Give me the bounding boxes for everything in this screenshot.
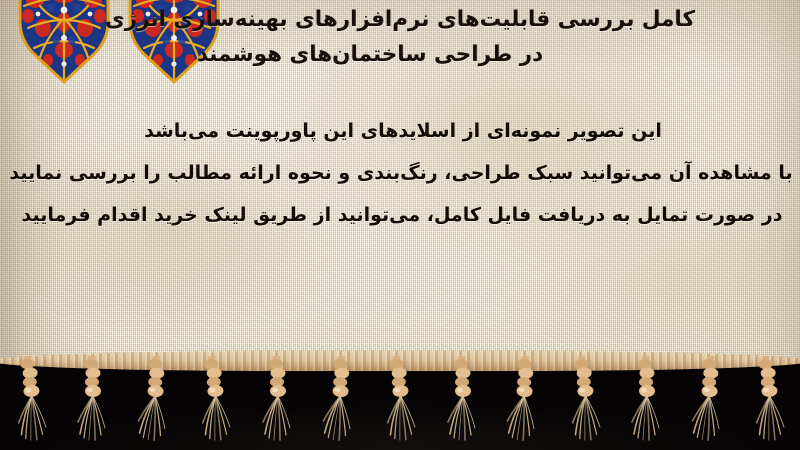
carpet-fringe-tassels (0, 360, 800, 450)
fringe-tassel (75, 356, 109, 442)
fringe-tassel (134, 355, 174, 443)
fringe-tassel (565, 355, 605, 443)
fringe-tassel (380, 355, 420, 443)
fringe-tassel (688, 355, 728, 443)
carpet-black-field (0, 360, 800, 450)
fringe-tassel (260, 356, 294, 442)
fringe-tassel (11, 355, 51, 443)
slide-title: کامل بررسی قابلیت‌های نرم‌افزارهای بهینه… (6, 2, 794, 72)
body-line-2: با مشاهده آن می‌توانید سبک طراحی، رنگ‌بن… (0, 152, 800, 194)
body-line-1: این تصویر نمونه‌ای از اسلایدهای این پاور… (0, 110, 800, 152)
fringe-tassel (629, 356, 663, 442)
fringe-tassel (195, 355, 235, 443)
slide-body-text: این تصویر نمونه‌ای از اسلایدهای این پاور… (0, 110, 800, 236)
fringe-tassel (749, 355, 789, 443)
fringe-tassel (319, 355, 359, 443)
slide-title-line-2: در طراحی ساختمان‌های هوشمند (6, 37, 794, 72)
body-line-3: در صورت تمایل به دریافت فایل کامل، می‌تو… (0, 194, 800, 236)
slide-title-line-1: کامل بررسی قابلیت‌های نرم‌افزارهای بهینه… (6, 2, 794, 37)
fringe-tassel (503, 355, 543, 443)
slide-canvas: کامل بررسی قابلیت‌های نرم‌افزارهای بهینه… (0, 0, 800, 450)
fringe-tassel (445, 356, 479, 442)
